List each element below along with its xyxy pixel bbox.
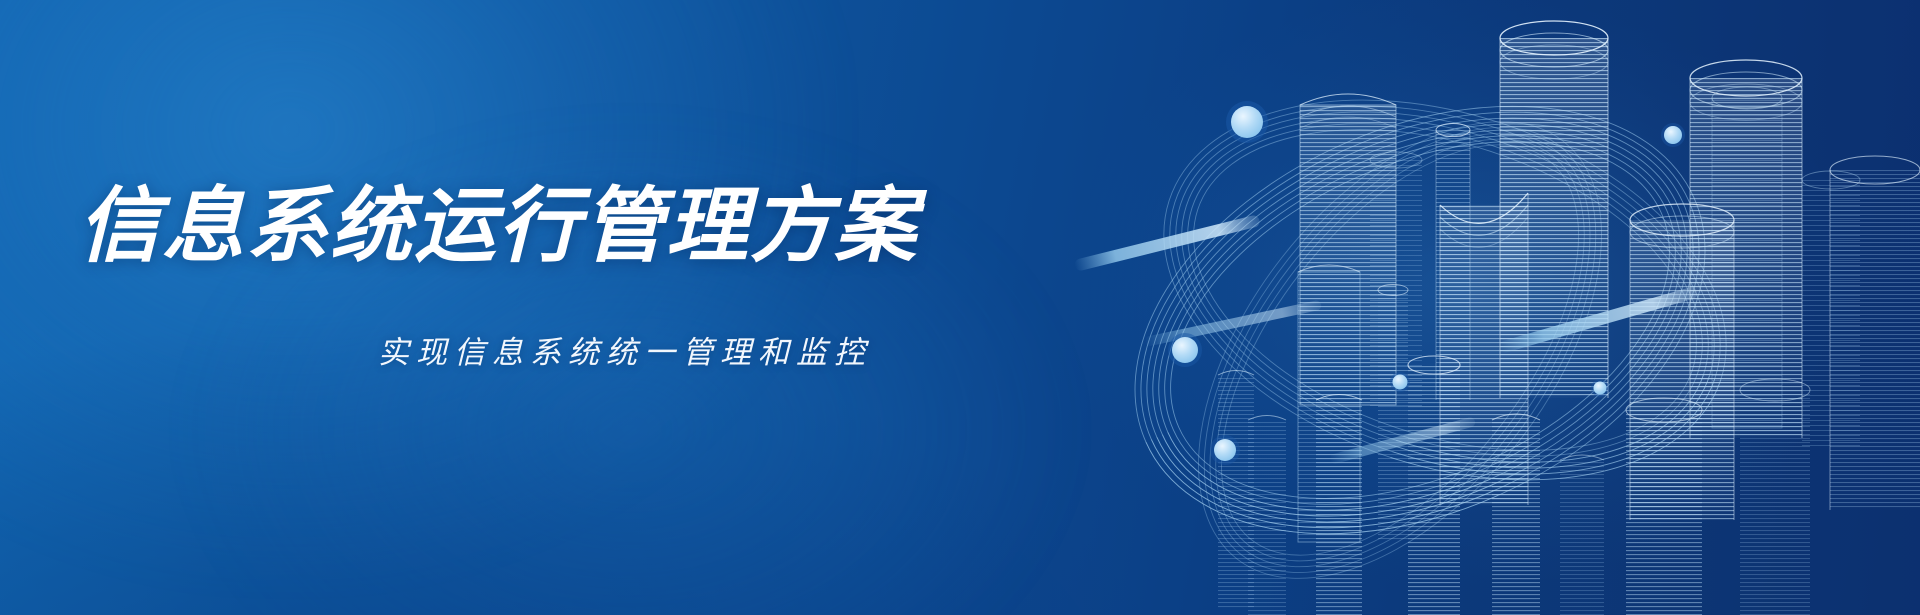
glow-dot-medium-left xyxy=(1168,333,1202,367)
building-front-4 xyxy=(1408,356,1460,615)
glow-dot-small-lower xyxy=(1591,379,1609,397)
glow-dot-large-top xyxy=(1226,101,1268,143)
building-front-5 xyxy=(1492,414,1540,615)
headline-block: 信息系统运行管理方案 实现信息系统统一管理和监控 xyxy=(0,0,960,615)
building-front-7 xyxy=(1626,398,1702,615)
glow-dot-small-right xyxy=(1661,123,1685,147)
wireframe-city-illustration xyxy=(900,0,1920,615)
hero-banner: 信息系统运行管理方案 实现信息系统统一管理和监控 xyxy=(0,0,1920,615)
building-g xyxy=(1830,156,1920,510)
glow-dot-small-mid xyxy=(1390,372,1410,392)
page-title: 信息系统运行管理方案 xyxy=(78,186,918,268)
building-front-3 xyxy=(1316,395,1362,615)
building-front-6 xyxy=(1560,455,1604,615)
glow-dot-small-bottom xyxy=(1210,435,1240,465)
building-front-2 xyxy=(1248,416,1286,615)
page-subtitle: 实现信息系统统一管理和监控 xyxy=(378,337,872,368)
building-front-8 xyxy=(1740,379,1810,615)
